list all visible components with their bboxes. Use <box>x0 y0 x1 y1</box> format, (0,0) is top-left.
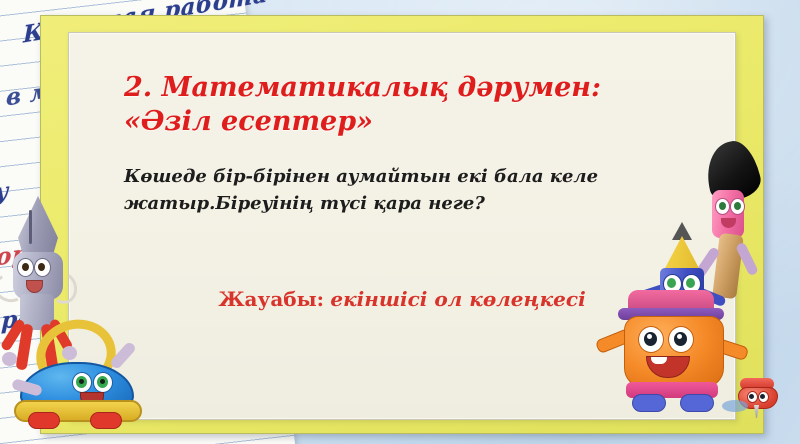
slide-question-text: Көшеде бір-бірінен аумайтын екі бала кел… <box>124 163 629 217</box>
paintbrush-pupil-right <box>734 202 741 210</box>
pencil-pupil-right <box>686 278 695 288</box>
ink-splash <box>722 400 748 412</box>
thumbtack-pupil-right <box>760 394 765 399</box>
question-line-1: Көшеде бір-бірінен аумайтын екі бала кел… <box>124 163 629 190</box>
question-line-2: жатыр.Біреуінің түсі қара неге? <box>124 190 629 217</box>
slide-title-line-2: «Әзіл есептер» <box>124 105 644 139</box>
inkwell-foot-right <box>90 412 122 429</box>
thumbtack-character <box>736 378 780 418</box>
inkwell-character <box>12 320 152 432</box>
pen-pupil-left <box>22 263 29 271</box>
paint-pot-character <box>620 290 750 418</box>
paint-pot-pupil-right <box>674 332 687 346</box>
pencil-pupil-left <box>667 278 676 288</box>
pen-pupil-right <box>38 263 45 271</box>
paintbrush-pupil-left <box>719 202 726 210</box>
slide-canvas: Классная работа в мы у хорошо. раёт 2. М… <box>0 0 800 444</box>
inkwell-pupil-right <box>97 376 108 388</box>
thumbtack-pin <box>754 405 759 418</box>
slide-title-line-1: 2. Математикалық дәрумен: <box>124 71 644 105</box>
paint-pot-pupil-left <box>644 332 657 346</box>
slide-title: 2. Математикалық дәрумен: «Әзіл есептер» <box>124 71 644 139</box>
answer-label: Жауабы: <box>218 287 324 311</box>
paint-pot-foot-left <box>632 394 666 412</box>
thumbtack-pupil-left <box>749 394 754 399</box>
pen-nib-slit <box>29 210 32 244</box>
answer-value: екіншісі ол көлеңкесі <box>330 287 585 311</box>
inkwell-pupil-left <box>76 376 87 388</box>
inkwell-foot-left <box>28 412 60 429</box>
paint-pot-foot-right <box>680 394 714 412</box>
